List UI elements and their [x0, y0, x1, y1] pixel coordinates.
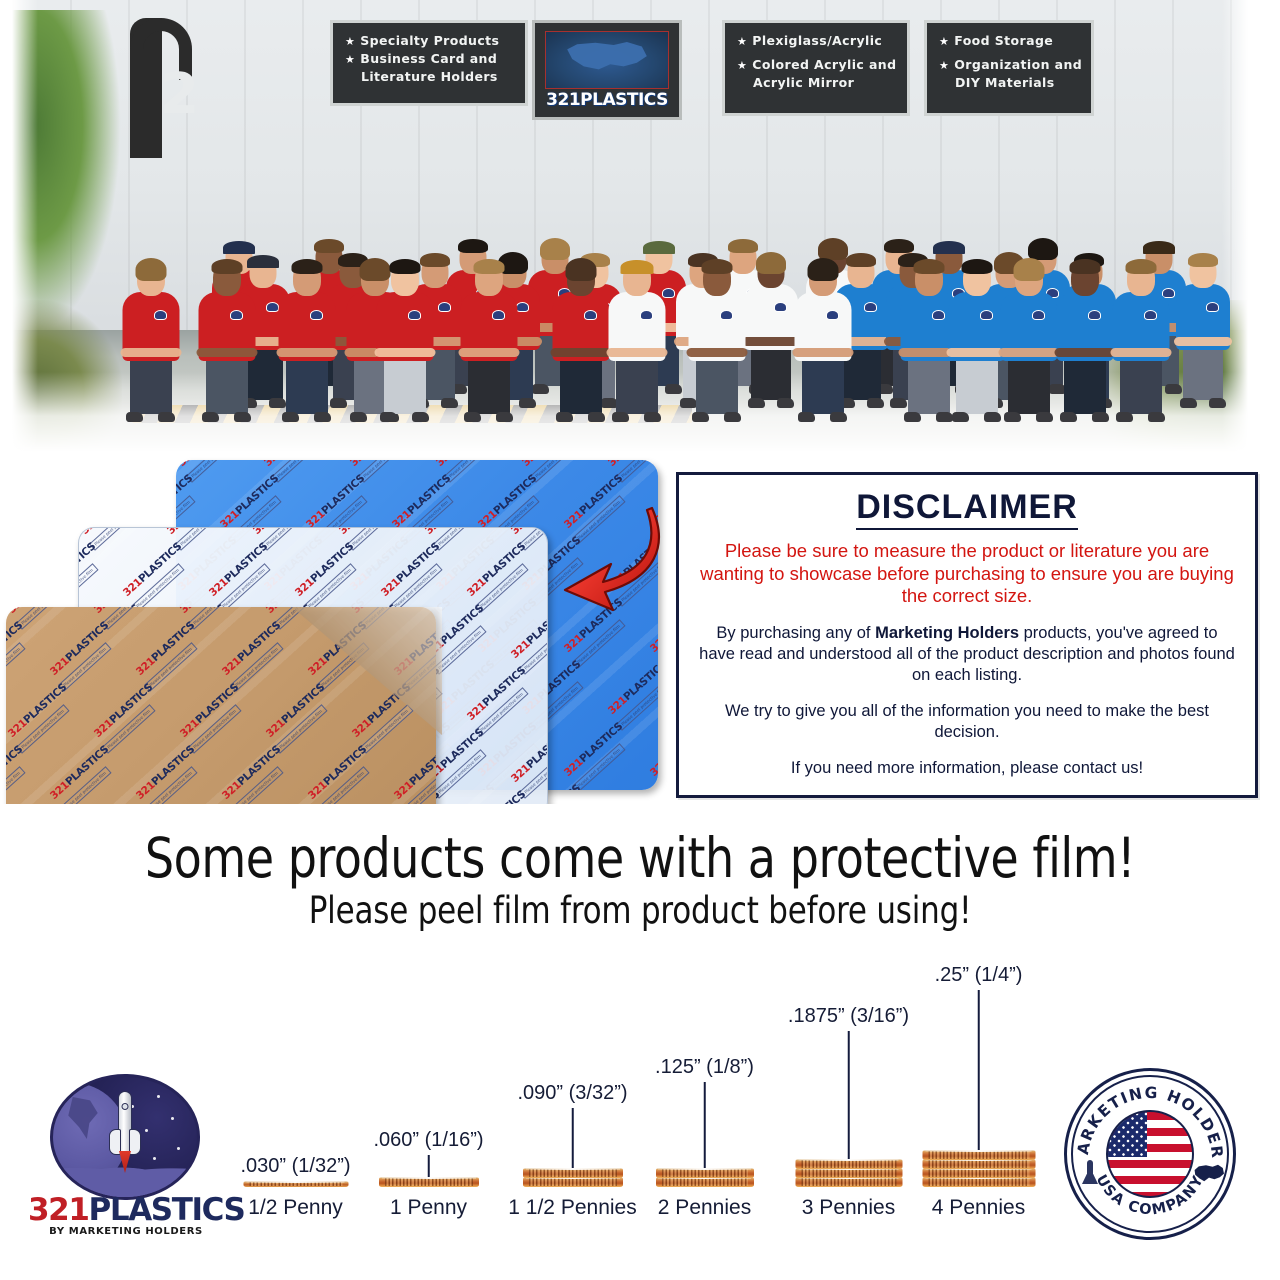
- shirt-logo: [1144, 310, 1157, 320]
- leader-line: [847, 1031, 850, 1159]
- arms: [1174, 337, 1232, 346]
- arms: [792, 348, 853, 357]
- film-watermark-note: Please peel protective film: [79, 563, 98, 612]
- logo-marketing-holders: MARKETING HOLDERS USA COMPANY: [1064, 1068, 1236, 1240]
- shoe: [282, 412, 299, 422]
- penny-stack: [379, 1177, 479, 1187]
- arms: [276, 348, 337, 357]
- measurement-label: .030” (1/32”): [240, 1155, 350, 1178]
- arms: [606, 348, 667, 357]
- hair: [807, 258, 838, 281]
- shirt-logo: [438, 302, 451, 312]
- measurement-label: .25” (1/4”): [935, 964, 1023, 987]
- penny-stack: [795, 1159, 902, 1187]
- shoe: [412, 412, 429, 422]
- shoe: [1092, 412, 1109, 422]
- legs: [1008, 355, 1050, 414]
- film-watermark-note: Please peel protective film: [6, 642, 25, 691]
- logo-tagline: BY MARKETING HOLDERS: [28, 1226, 224, 1237]
- disclaimer-box: DISCLAIMER Please be sure to measure the…: [676, 472, 1258, 798]
- legs: [802, 355, 844, 414]
- employee: [456, 124, 521, 422]
- shoe: [126, 412, 143, 422]
- hair: [1069, 259, 1100, 274]
- penny-coin: [523, 1177, 623, 1187]
- chart-column: .030” (1/32”)1/2 Penny: [295, 970, 296, 1220]
- shoe: [1116, 412, 1133, 422]
- red-arrow-icon: [551, 498, 671, 618]
- arms: [998, 348, 1059, 357]
- legs: [286, 355, 328, 414]
- hair: [1125, 259, 1156, 274]
- disclaimer-paragraph-3: We try to give you all of the informatio…: [697, 701, 1237, 743]
- shirt-logo: [640, 310, 653, 320]
- penny-coin: [243, 1181, 348, 1187]
- shoe: [904, 412, 921, 422]
- logo-321plastics: 321PLASTICS BY MARKETING HOLDERS: [28, 1074, 224, 1240]
- legs: [468, 355, 510, 414]
- chart-column: .060” (1/16”)1 Penny: [428, 970, 429, 1220]
- shoe: [464, 412, 481, 422]
- globe-graphic: [50, 1074, 200, 1200]
- film-watermark-note: Please peel protective film: [6, 766, 25, 804]
- seal-rocket-icon: [1082, 1160, 1098, 1190]
- penny-stack: [922, 1150, 1035, 1187]
- shoe: [380, 412, 397, 422]
- shoe: [158, 412, 175, 422]
- hair: [291, 259, 322, 274]
- hair: [1188, 253, 1218, 267]
- legs: [130, 355, 172, 414]
- penny-stack: [243, 1181, 348, 1187]
- shoe: [798, 412, 815, 422]
- category-label: 1/2 Penny: [248, 1196, 343, 1220]
- legs: [1120, 355, 1162, 414]
- page-root: 2 ★Specialty Products ★Business Card and…: [0, 0, 1280, 1280]
- chart-column: .1875” (3/16”)3 Pennies: [848, 970, 849, 1220]
- hair: [961, 259, 992, 274]
- shoe: [234, 412, 251, 422]
- shirt-logo: [154, 310, 167, 320]
- employee: [1108, 124, 1173, 422]
- measurement-label: .090” (3/32”): [517, 1082, 627, 1105]
- employee: [1172, 146, 1234, 408]
- penny-coin: [922, 1159, 1035, 1169]
- photo-fade-left: [12, 0, 38, 452]
- shirt-logo: [1088, 310, 1101, 320]
- shirt-logo: [230, 310, 243, 320]
- arms: [374, 348, 435, 357]
- shoe: [202, 412, 219, 422]
- shirt-logo: [826, 310, 839, 320]
- legs: [384, 355, 426, 414]
- penny-coin: [922, 1168, 1035, 1178]
- rocket-icon: [110, 1091, 140, 1177]
- shoe: [952, 412, 969, 422]
- chart-column: .125” (1/8”)2 Pennies: [704, 970, 705, 1220]
- category-label: 4 Pennies: [932, 1196, 1025, 1220]
- shirt-logo: [720, 310, 733, 320]
- shoe: [612, 412, 629, 422]
- measurement-label: .060” (1/16”): [373, 1129, 483, 1152]
- legs: [560, 355, 602, 414]
- penny-coin: [656, 1177, 754, 1187]
- hair: [135, 258, 166, 281]
- headline-sub: Please peel film from product before usi…: [45, 889, 1235, 932]
- disclaimer-red-paragraph: Please be sure to measure the product or…: [697, 540, 1237, 608]
- shoe: [556, 412, 573, 422]
- shirt-logo: [864, 302, 877, 312]
- arms: [550, 348, 611, 357]
- legs: [616, 355, 658, 414]
- shoe: [830, 412, 847, 422]
- chart-column: .090” (3/32”)1 1/2 Pennies: [572, 970, 573, 1220]
- legs: [696, 355, 738, 414]
- film-watermark: 321PLASTICS: [465, 788, 528, 804]
- penny-coin: [795, 1159, 902, 1169]
- employee: [274, 124, 339, 422]
- headline-main: Some products come with a protective fil…: [45, 826, 1235, 890]
- shoe: [1180, 398, 1197, 408]
- film-watermark: 321PLASTICS: [606, 782, 658, 790]
- shirt-logo: [774, 302, 787, 312]
- employee-group: [12, 0, 1248, 452]
- penny-coin: [795, 1168, 902, 1178]
- arms: [1110, 348, 1171, 357]
- leader-line: [427, 1155, 430, 1177]
- employee: [194, 124, 259, 422]
- cap: [620, 260, 653, 274]
- measurement-label: .1875” (3/16”): [788, 1005, 909, 1028]
- legs: [1064, 355, 1106, 414]
- legs: [956, 355, 998, 414]
- shoe: [644, 412, 661, 422]
- shirt-logo: [310, 310, 323, 320]
- hair: [565, 258, 596, 281]
- category-label: 1 Penny: [390, 1196, 467, 1220]
- shoe: [1148, 412, 1165, 422]
- arms: [686, 348, 747, 357]
- shoe: [519, 398, 536, 408]
- shoe: [1036, 412, 1053, 422]
- penny-coin: [656, 1168, 754, 1178]
- hair: [389, 259, 420, 274]
- penny-stack: [523, 1168, 623, 1187]
- team-photo: 2 ★Specialty Products ★Business Card and…: [12, 0, 1248, 452]
- hair: [913, 259, 944, 274]
- penny-coin: [922, 1150, 1035, 1160]
- shoe: [314, 412, 331, 422]
- shoe: [748, 398, 765, 408]
- p2-pre: By purchasing any of: [716, 624, 875, 642]
- employee: [684, 124, 749, 422]
- category-label: 2 Pennies: [658, 1196, 751, 1220]
- shirt-logo: [980, 310, 993, 320]
- measurement-label: .125” (1/8”): [655, 1056, 754, 1079]
- chart-column: .25” (1/4”)4 Pennies: [978, 970, 979, 1220]
- logo-wordmark: 321PLASTICS: [28, 1194, 224, 1226]
- hair: [211, 259, 242, 274]
- disclaimer-paragraph-2: By purchasing any of Marketing Holders p…: [697, 623, 1237, 686]
- category-label: 1 1/2 Pennies: [508, 1196, 636, 1220]
- penny-coin: [523, 1168, 623, 1178]
- shoe: [1060, 412, 1077, 422]
- arms: [458, 348, 519, 357]
- shirt-logo: [1032, 310, 1045, 320]
- arms: [1054, 348, 1115, 357]
- penny-coin: [795, 1177, 902, 1187]
- penny-coin: [922, 1177, 1035, 1187]
- arms: [120, 348, 181, 357]
- legs: [206, 355, 248, 414]
- hair: [701, 259, 732, 274]
- shirt-logo: [492, 310, 505, 320]
- arms: [196, 348, 257, 357]
- legs: [751, 344, 791, 400]
- leader-line: [703, 1082, 706, 1168]
- shoe: [692, 412, 709, 422]
- leader-line: [571, 1108, 574, 1168]
- shoe: [496, 412, 513, 422]
- disclaimer-heading: DISCLAIMER: [856, 487, 1078, 530]
- p2-bold: Marketing Holders: [875, 624, 1019, 642]
- legs: [1183, 344, 1223, 400]
- employee: [604, 124, 669, 422]
- shoe: [588, 412, 605, 422]
- employee: [118, 124, 183, 422]
- shoe: [1004, 412, 1021, 422]
- disclaimer-paragraph-4: If you need more information, please con…: [697, 758, 1237, 779]
- film-watermark: 321PLASTICS: [648, 720, 658, 779]
- hair: [1013, 258, 1044, 281]
- employee: [372, 124, 437, 422]
- leader-line: [977, 990, 980, 1150]
- penny-stack: [656, 1168, 754, 1187]
- penny-coin: [379, 1177, 479, 1187]
- shirt-logo: [584, 310, 597, 320]
- shirt-logo: [1206, 302, 1219, 312]
- employee: [790, 124, 855, 422]
- hair: [756, 252, 786, 274]
- usa-flag-icon: [1106, 1110, 1194, 1198]
- category-label: 3 Pennies: [802, 1196, 895, 1220]
- shoe: [724, 412, 741, 422]
- shoe: [1209, 398, 1226, 408]
- hair: [473, 259, 504, 274]
- shoe: [350, 412, 367, 422]
- shirt-logo: [408, 310, 421, 320]
